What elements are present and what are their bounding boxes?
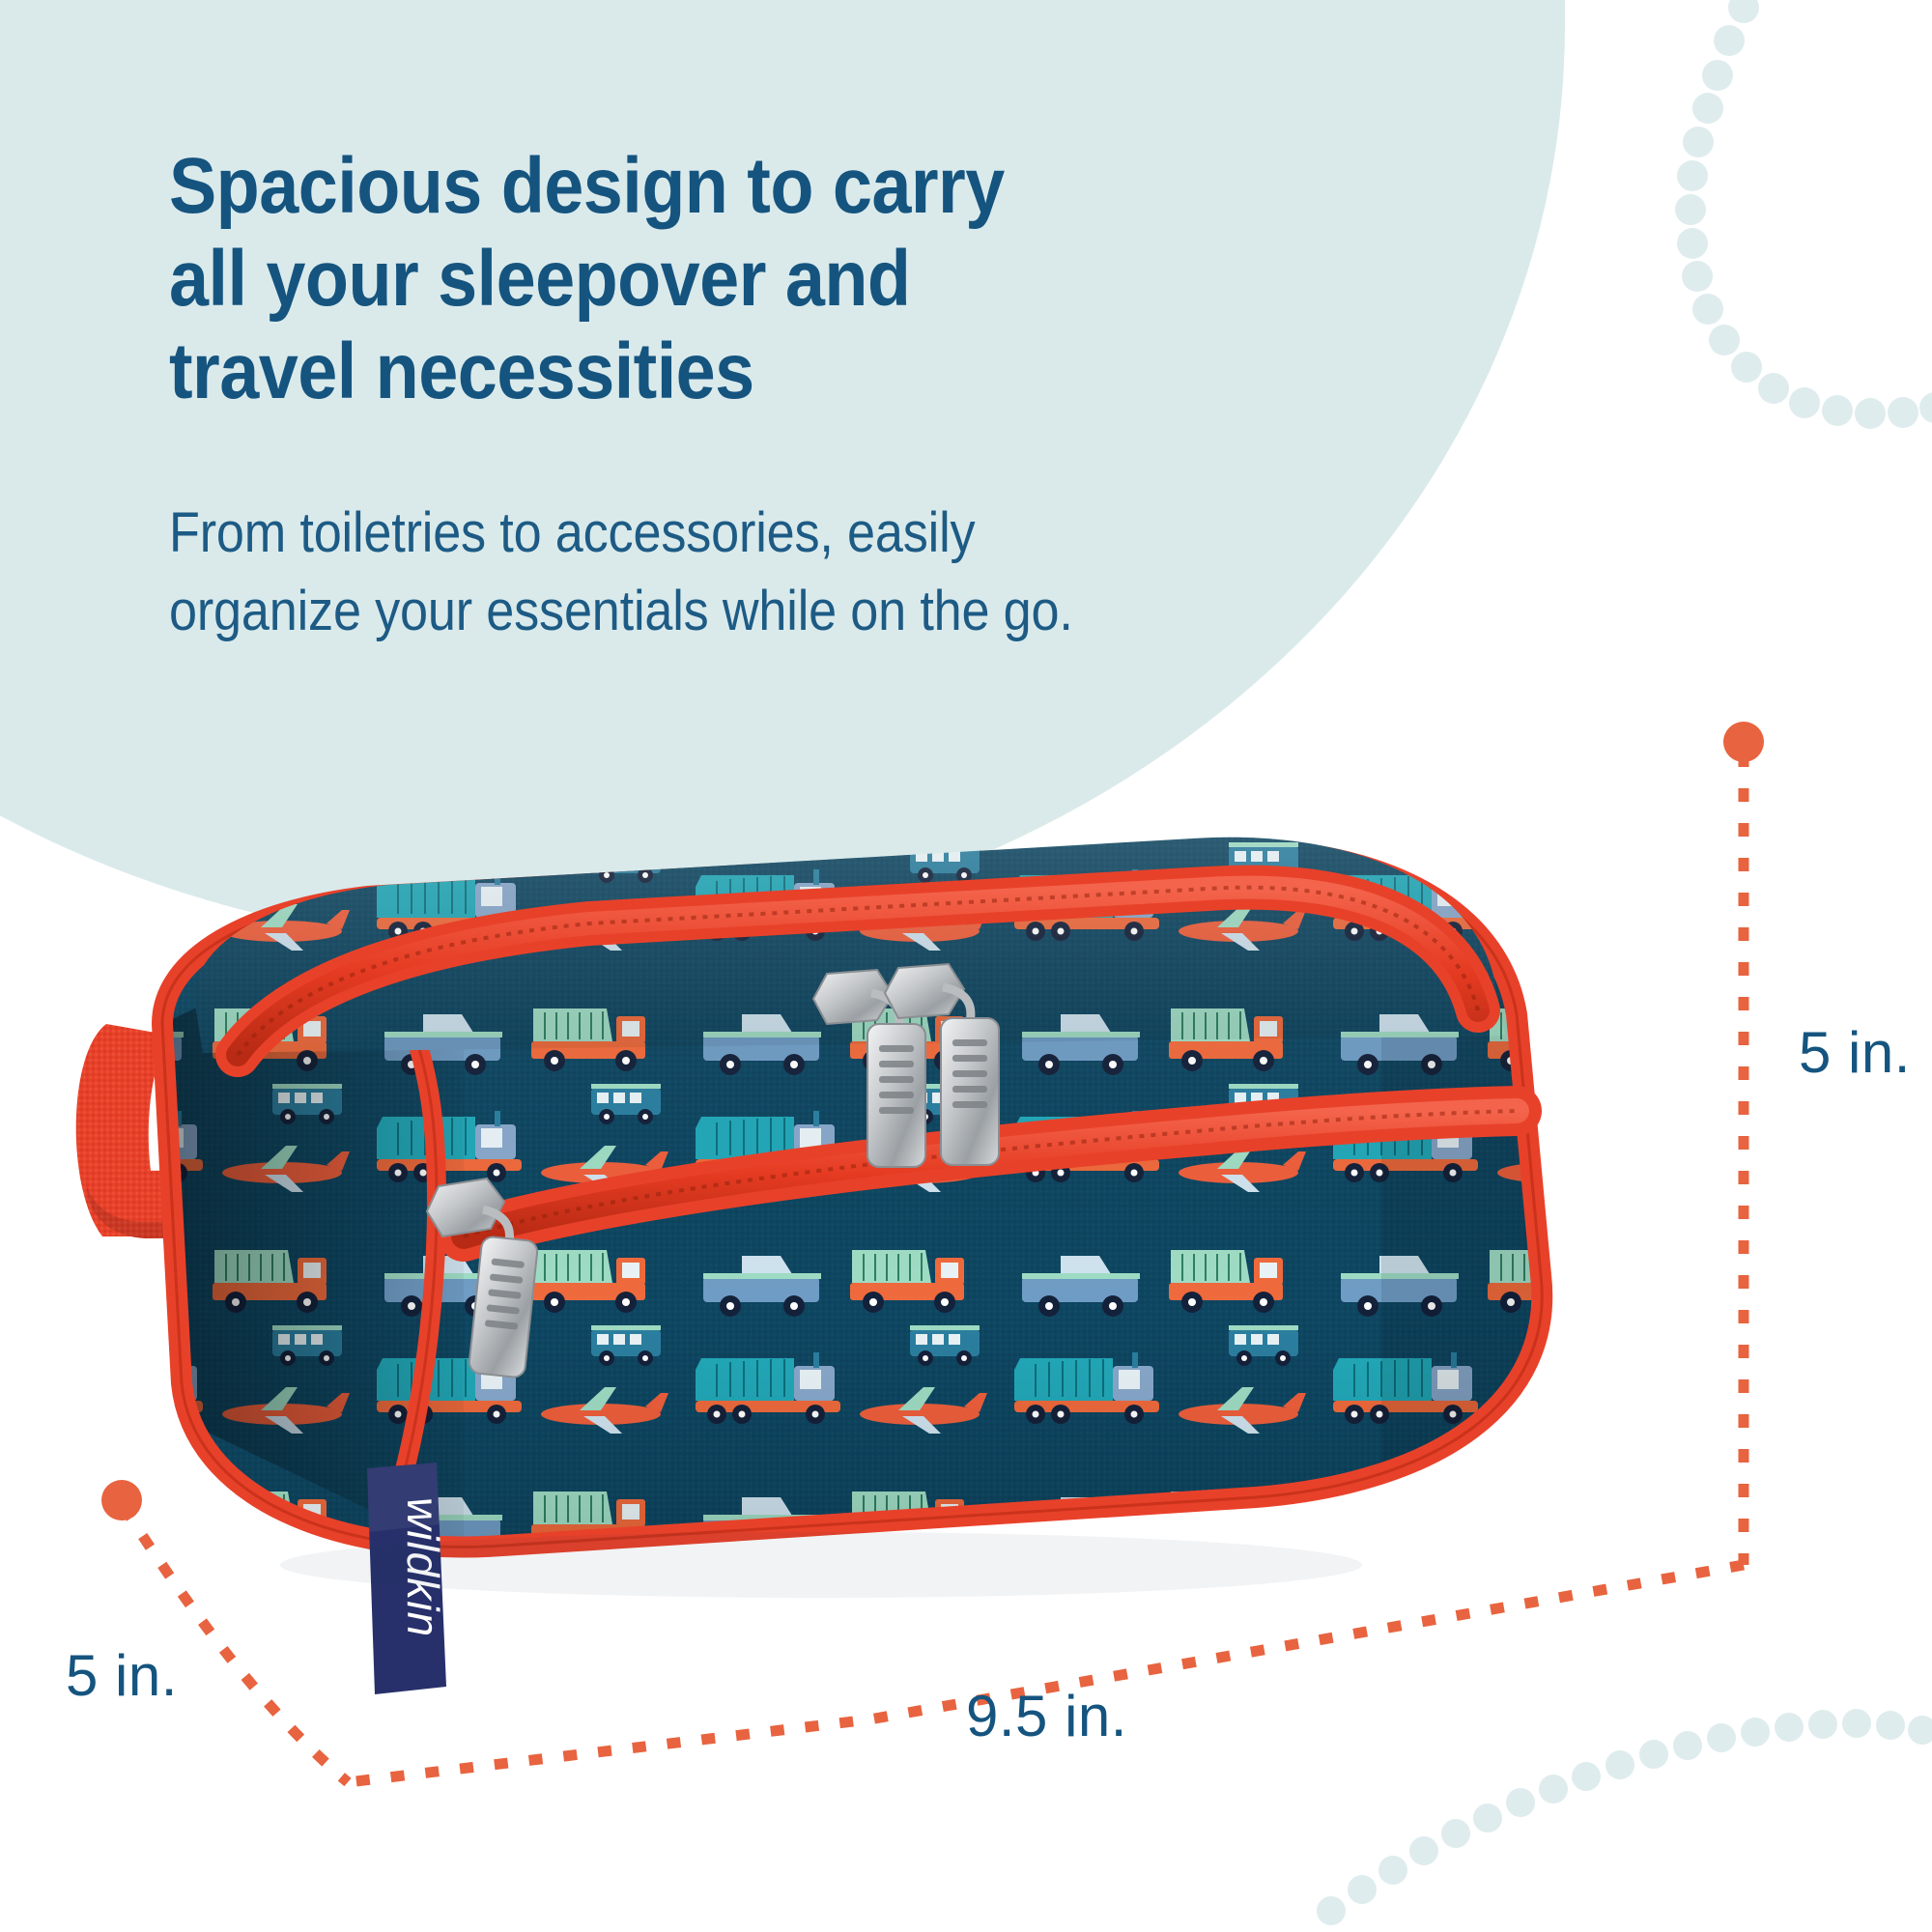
decorative-dot-arc-top-right: [1633, 0, 1932, 444]
dimension-label-width: 9.5 in.: [966, 1683, 1127, 1749]
page-title: Spacious design to carry all your sleepo…: [169, 140, 1099, 418]
infographic-canvas: Spacious design to carry all your sleepo…: [0, 0, 1932, 1932]
product-image-toiletry-bag: wildkin: [48, 734, 1710, 1777]
page-subtitle: From toiletries to accessories, easily o…: [169, 494, 1099, 650]
dimension-label-height: 5 in.: [1799, 1019, 1911, 1086]
copy-block: Spacious design to carry all your sleepo…: [169, 140, 1203, 650]
dimension-endpoint-top-right: [1723, 722, 1764, 762]
dimension-label-depth: 5 in.: [66, 1642, 178, 1709]
